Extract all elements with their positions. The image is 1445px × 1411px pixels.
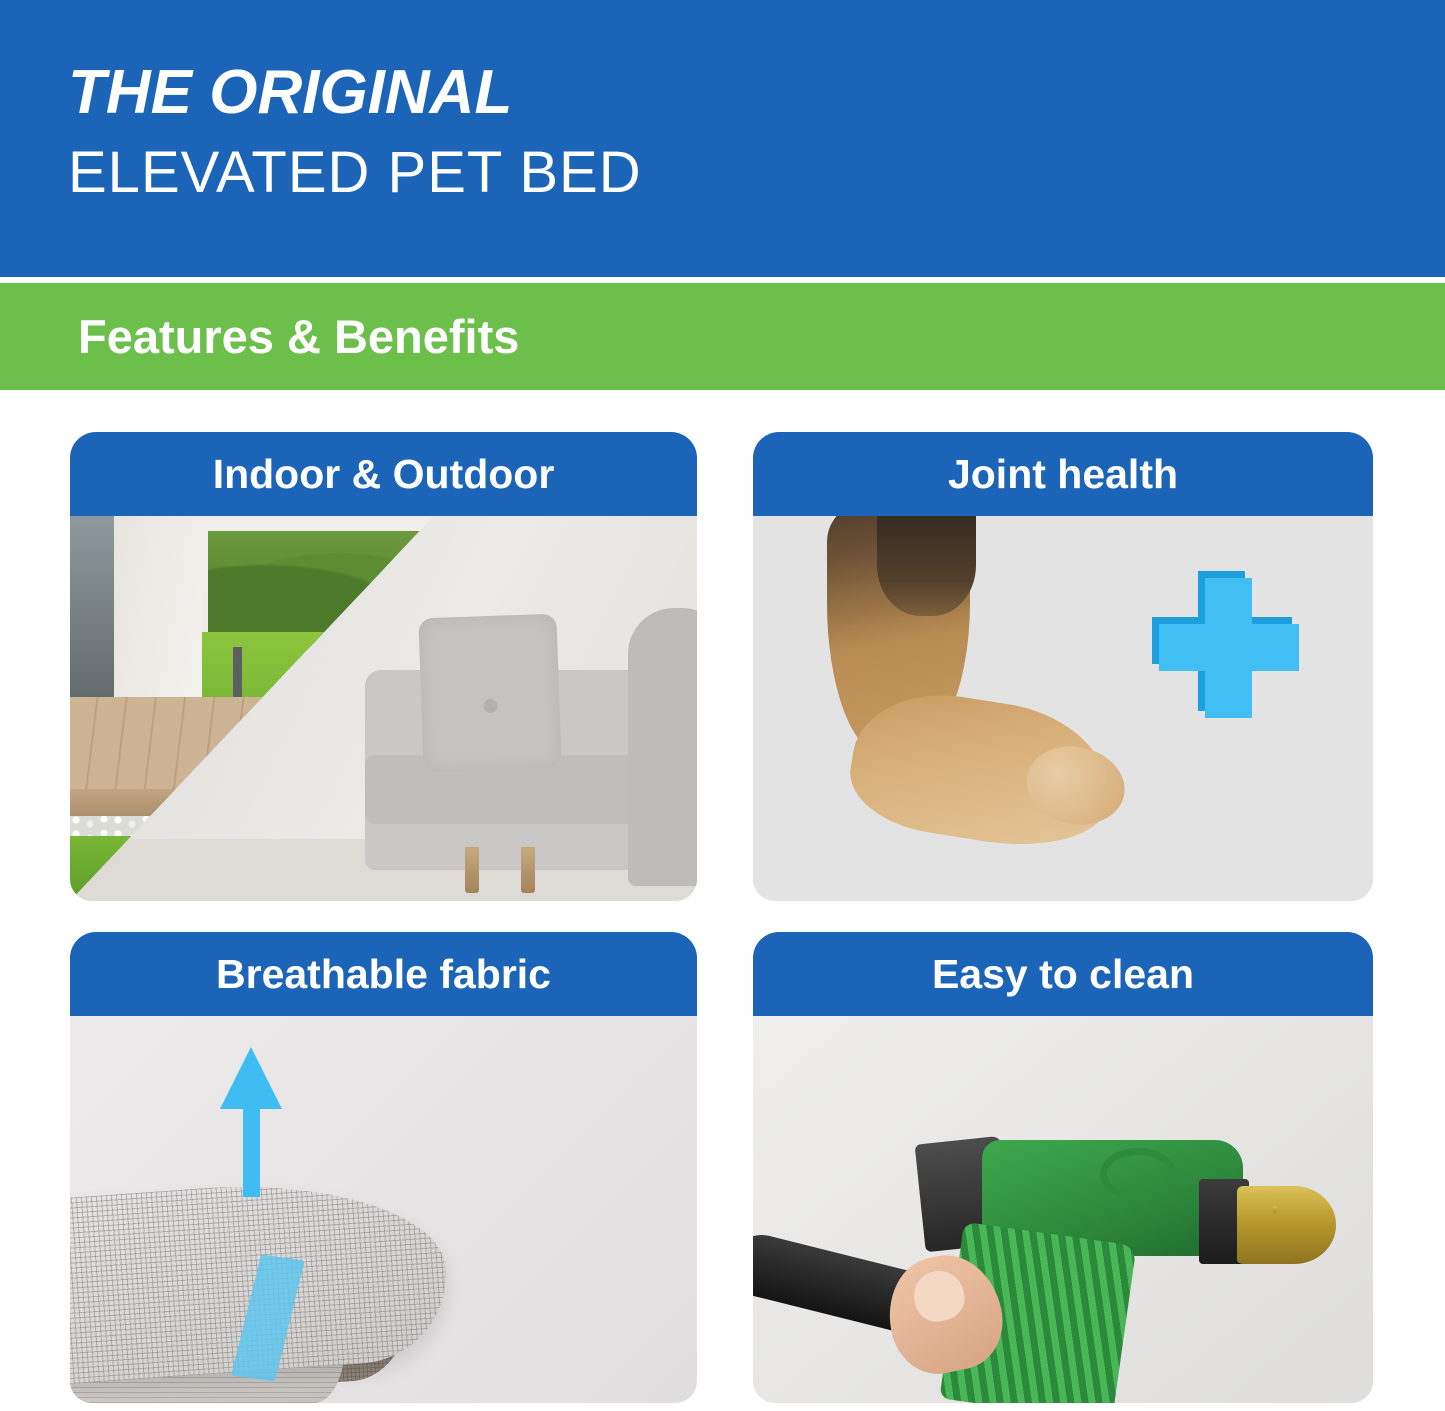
section-title: Features & Benefits — [78, 313, 519, 360]
hose-nozzle-photo — [753, 1016, 1373, 1403]
card-header-joint-health: Joint health — [753, 432, 1373, 516]
dog-leg-upper — [877, 516, 976, 616]
card-title-easy-to-clean: Easy to clean — [932, 954, 1194, 995]
feature-card-indoor-outdoor: Indoor & Outdoor — [70, 432, 697, 901]
sofa-arm — [628, 608, 697, 885]
card-title-joint-health: Joint health — [948, 454, 1178, 495]
card-title-breathable-fabric: Breathable fabric — [216, 954, 551, 995]
features-benefits-band: Features & Benefits — [0, 283, 1445, 390]
indoor-outdoor-split-photo — [70, 516, 697, 901]
card-header-easy-to-clean: Easy to clean — [753, 932, 1373, 1016]
hero-banner: THE ORIGINAL ELEVATED PET BED — [0, 0, 1445, 277]
card-image-joint-health — [753, 516, 1373, 901]
feature-card-grid: Indoor & Outdoor — [0, 404, 1445, 1411]
card-header-indoor-outdoor: Indoor & Outdoor — [70, 432, 697, 516]
brass-knob — [1272, 1206, 1278, 1214]
feature-card-easy-to-clean: Easy to clean — [753, 932, 1373, 1403]
medical-plus-icon-body — [1159, 578, 1299, 718]
sofa-leg — [521, 847, 535, 893]
sofa-cushion — [418, 614, 561, 773]
dog-paw-photo — [753, 516, 1373, 901]
card-image-breathable-fabric — [70, 1016, 697, 1403]
feature-card-breathable-fabric: Breathable fabric — [70, 932, 697, 1403]
house-door — [70, 516, 114, 720]
card-title-indoor-outdoor: Indoor & Outdoor — [213, 454, 555, 495]
hero-title-line2: ELEVATED PET BED — [68, 144, 1445, 202]
cushion-button — [483, 699, 497, 713]
card-header-breathable-fabric: Breathable fabric — [70, 932, 697, 1016]
feature-card-joint-health: Joint health — [753, 432, 1373, 901]
hero-title-line1: THE ORIGINAL — [68, 62, 1445, 124]
medical-plus-icon — [1159, 578, 1299, 718]
up-arrow-icon — [220, 1047, 282, 1197]
brass-nozzle-tip — [1237, 1186, 1336, 1263]
mesh-fabric-photo — [70, 1016, 697, 1403]
garden-post — [233, 647, 242, 697]
nozzle-hook — [1100, 1148, 1176, 1201]
card-image-indoor-outdoor — [70, 516, 697, 901]
card-image-easy-to-clean — [753, 1016, 1373, 1403]
sofa-leg — [465, 847, 479, 893]
